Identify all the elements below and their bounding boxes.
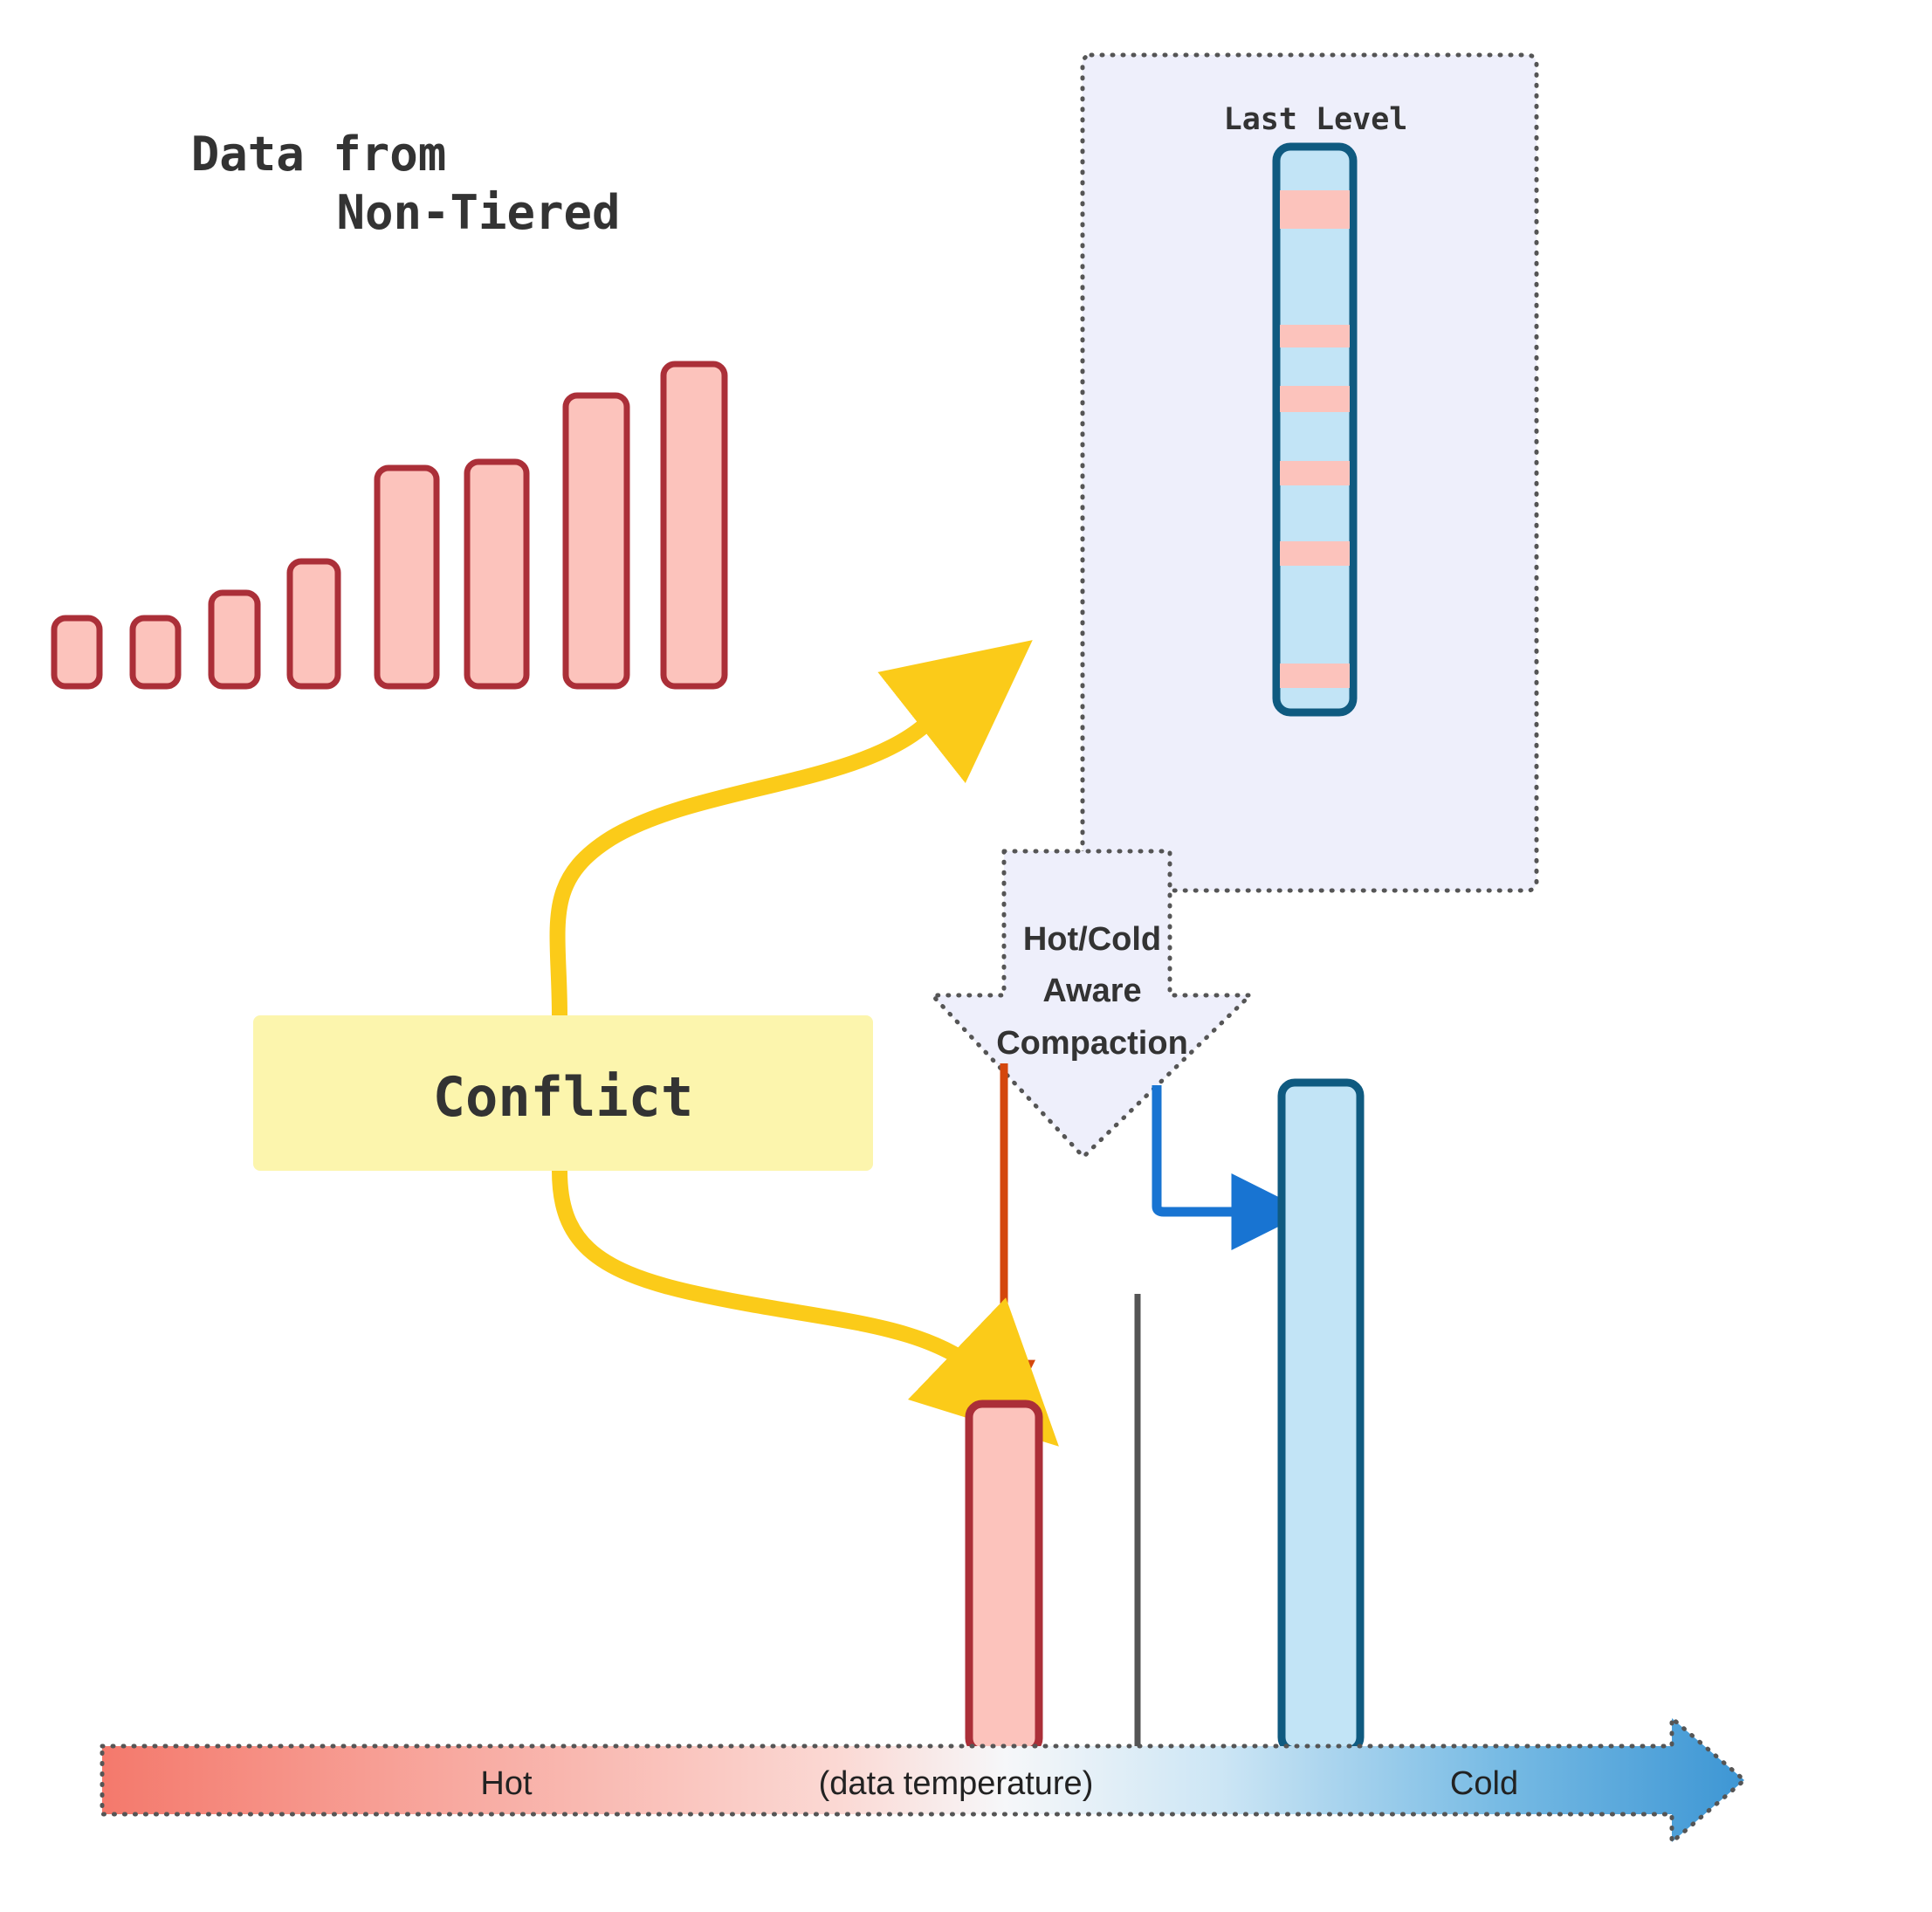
histogram-bar xyxy=(290,561,338,686)
hot-label: Hot xyxy=(480,1765,533,1802)
conflict-to-hot-bar-arrow xyxy=(560,1171,991,1381)
diagram-title-line1: Data from xyxy=(191,127,447,182)
compaction-label-line1: Hot/Cold xyxy=(1023,921,1161,958)
temperature-axis-caption: (data temperature) xyxy=(819,1765,1094,1802)
hot-output-bar xyxy=(969,1404,1039,1751)
last-level-hot-band xyxy=(1280,541,1350,566)
cold-data-flow-arrow xyxy=(1157,1085,1266,1212)
histogram-bar xyxy=(377,468,437,686)
last-level-label: Last Level xyxy=(1224,102,1408,137)
histogram-bar xyxy=(663,364,725,686)
non-tiered-data-histogram xyxy=(54,364,725,686)
last-level-bar-body xyxy=(1276,147,1353,712)
histogram-bar xyxy=(211,593,258,686)
histogram-bar xyxy=(133,618,178,686)
cold-output-bar xyxy=(1282,1083,1360,1750)
conflict-to-histogram-arrow xyxy=(558,698,959,1015)
diagram-canvas: Data from Non-Tiered Last Level Conflict… xyxy=(0,0,1932,1912)
last-level-hot-band xyxy=(1280,325,1350,347)
histogram-bar xyxy=(54,618,100,686)
last-level-hot-band xyxy=(1280,461,1350,485)
compaction-label-line2: Aware xyxy=(1042,973,1141,1009)
last-level-hot-band xyxy=(1280,664,1350,688)
histogram-bar xyxy=(467,462,526,686)
last-level-bar xyxy=(1276,147,1353,712)
compaction-label-line3: Compaction xyxy=(996,1025,1188,1062)
histogram-bar xyxy=(566,395,627,686)
last-level-hot-band xyxy=(1280,386,1350,412)
conflict-label: Conflict xyxy=(433,1065,694,1129)
cold-label: Cold xyxy=(1450,1765,1518,1802)
diagram-title-line2: Non-Tiered xyxy=(336,185,620,240)
lsm-hot-cold-compaction-diagram: Data from Non-Tiered Last Level Conflict… xyxy=(0,0,1932,1912)
last-level-hot-band xyxy=(1280,190,1350,229)
